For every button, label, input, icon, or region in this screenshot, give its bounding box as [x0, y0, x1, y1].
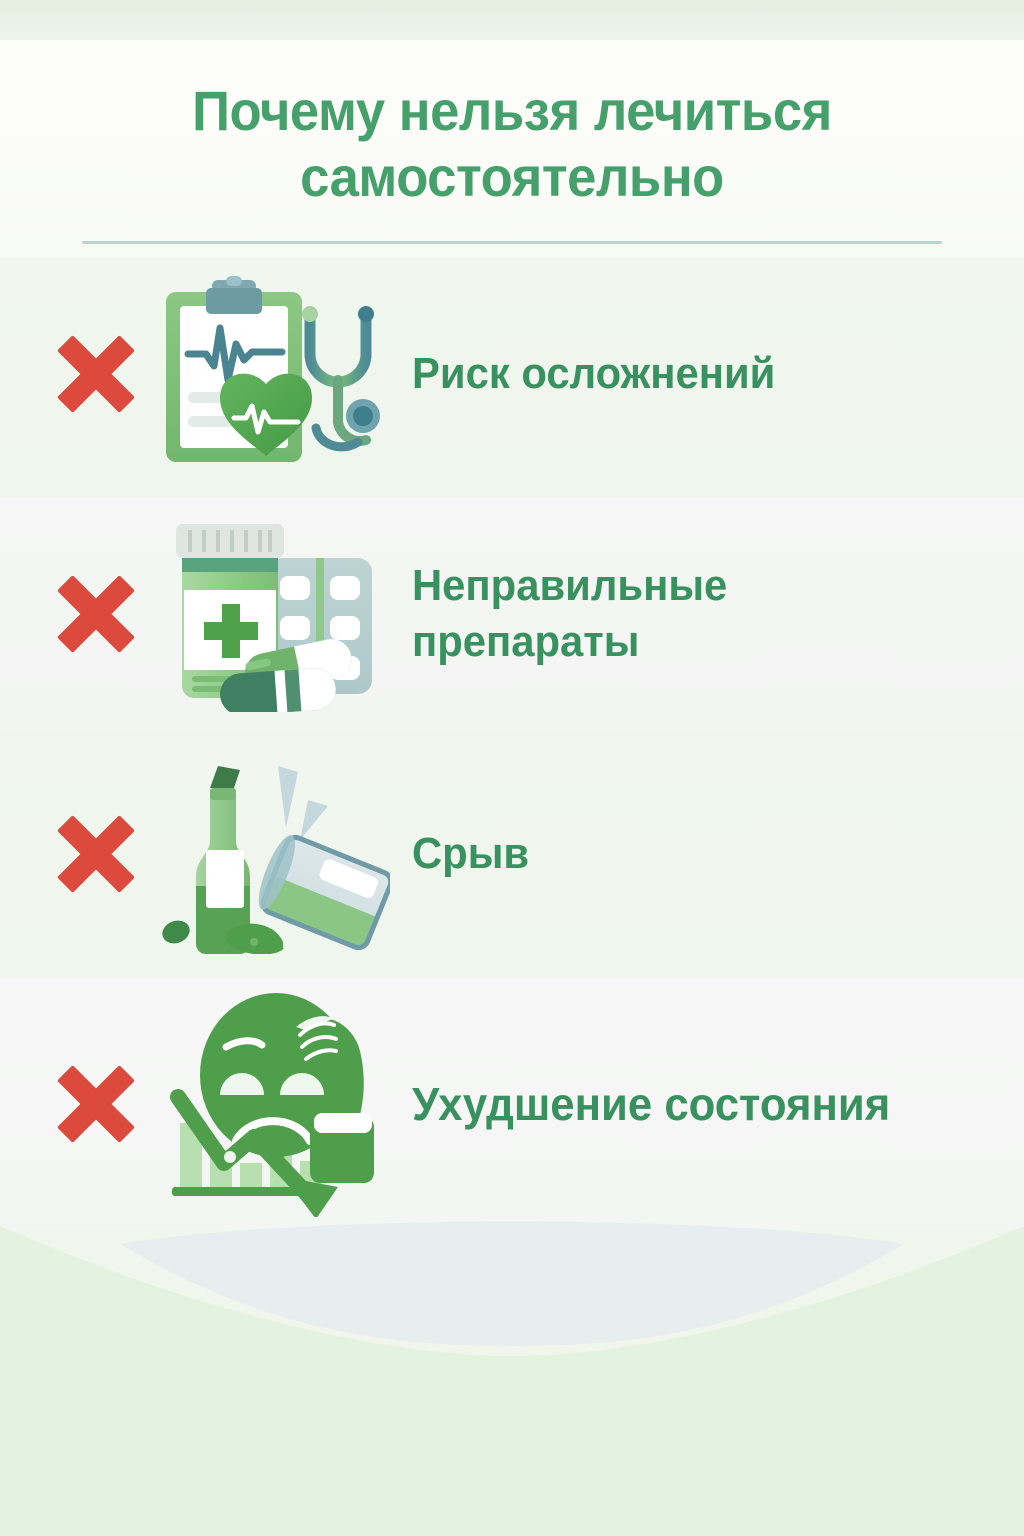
red-cross-icon	[48, 806, 144, 902]
reason-row-1: Риск осложнений	[0, 258, 1024, 490]
title-divider	[82, 241, 942, 244]
clipboard-heart-stethoscope-icon	[158, 258, 390, 490]
red-cross-icon	[48, 326, 144, 422]
red-cross-icon	[48, 1056, 144, 1152]
bottle-spilled-glass-icon	[158, 738, 390, 970]
reason-row-3: Срыв	[0, 738, 1024, 970]
page-title: Почему нельзя лечиться самостоятельно	[31, 78, 994, 210]
header-panel: Почему нельзя лечиться самостоятельно	[0, 40, 1024, 258]
top-accent-band	[0, 0, 1024, 42]
red-cross-icon	[48, 566, 144, 662]
reason-label-3: Срыв	[412, 826, 993, 882]
bottom-wave-decoration	[0, 1180, 1024, 1536]
reason-label-2: Неправильные препараты	[412, 558, 993, 671]
pill-bottle-blister-capsules-icon	[158, 498, 390, 730]
poster-root: Почему нельзя лечиться самостоятельно	[0, 0, 1024, 1536]
reason-label-1: Риск осложнений	[412, 346, 993, 402]
reason-label-4: Ухудшение состояния	[412, 1075, 993, 1134]
reason-row-2: Неправильные препараты	[0, 498, 1024, 730]
